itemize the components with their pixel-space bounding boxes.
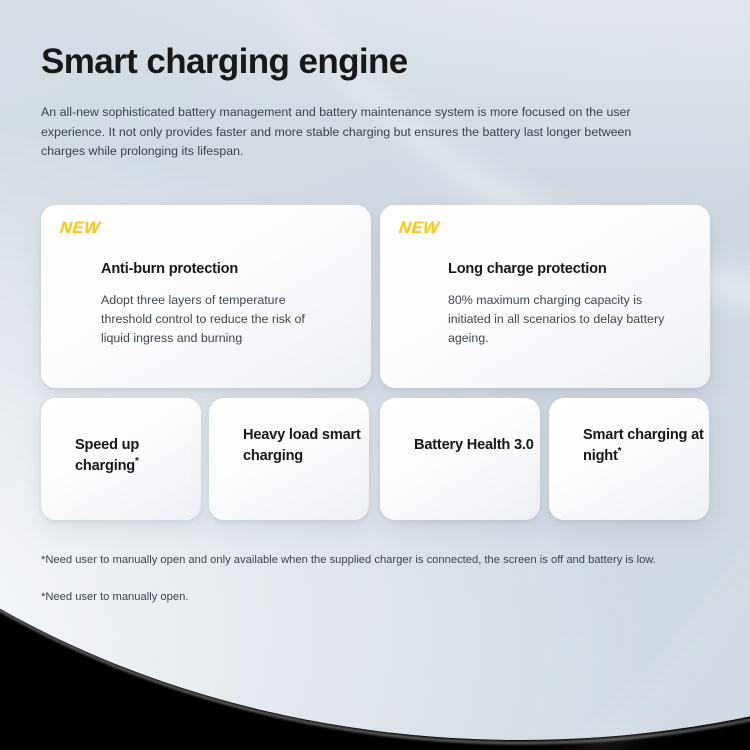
small-card-label: Smart charging at night* <box>583 425 713 467</box>
page-title: Smart charging engine <box>41 42 408 82</box>
feature-card-title: Anti-burn protection <box>101 261 238 277</box>
slide-content: Smart charging engine An all-new sophist… <box>0 0 750 750</box>
footnote-secondary: *Need user to manually open. <box>41 588 713 606</box>
footnote-marker: * <box>135 456 139 467</box>
small-card-label-text: Battery Health 3.0 <box>414 437 534 453</box>
feature-card-title: Long charge protection <box>448 261 607 277</box>
intro-paragraph: An all-new sophisticated battery managem… <box>41 103 641 162</box>
new-badge: NEW <box>59 219 101 238</box>
feature-card-description: Adopt three layers of temperature thresh… <box>101 291 336 348</box>
small-card-label: Speed up charging* <box>75 435 205 477</box>
footnote-marker: * <box>618 446 622 457</box>
small-card-label-text: Heavy load smart charging <box>243 427 361 464</box>
small-card-label-text: Speed up charging <box>75 437 139 474</box>
feature-card-description: 80% maximum charging capacity is initiat… <box>448 291 683 348</box>
slide-canvas: Smart charging engine An all-new sophist… <box>0 0 750 750</box>
small-card-label: Heavy load smart charging <box>243 425 373 467</box>
small-card-label-text: Smart charging at night <box>583 427 704 464</box>
small-card-label: Battery Health 3.0 <box>414 435 544 456</box>
small-card-battery-health[interactable] <box>380 398 540 520</box>
new-badge: NEW <box>398 219 440 238</box>
footnote-primary: *Need user to manually open and only ava… <box>41 551 713 569</box>
